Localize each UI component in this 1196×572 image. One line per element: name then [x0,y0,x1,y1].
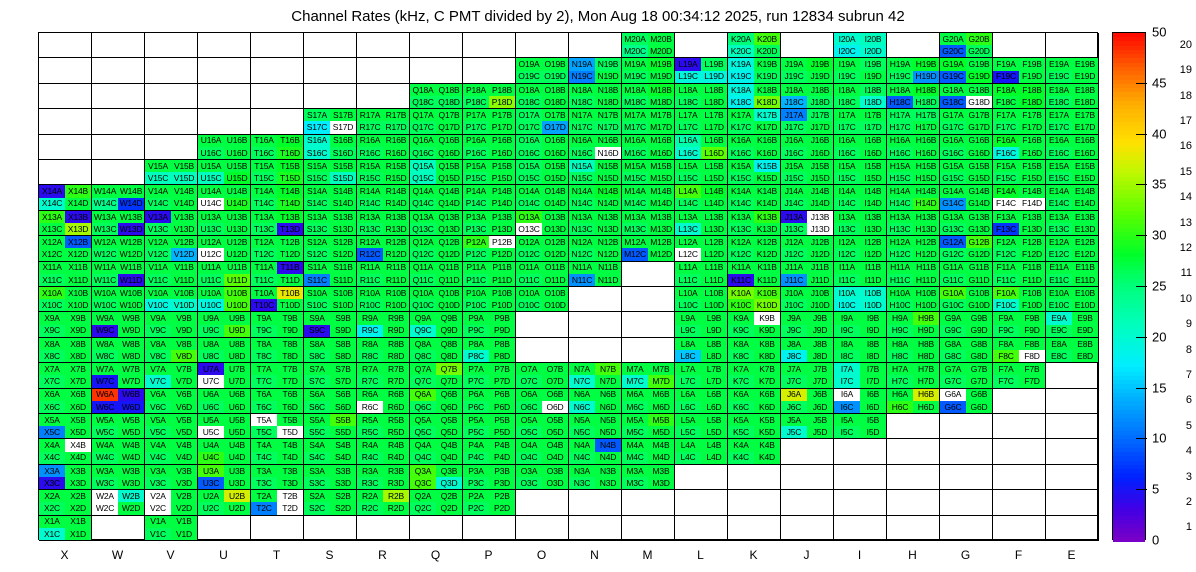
channel-N4C[interactable]: N4C [569,452,595,464]
channel-V10A[interactable]: V10A [145,287,171,299]
channel-P5A[interactable]: P5A [463,414,489,426]
channel-V11B[interactable]: V11B [171,262,197,274]
channel-L15D[interactable]: L15D [701,172,727,184]
heatmap-cell[interactable]: P12AP12BP12CP12D [463,236,516,261]
channel-S15D[interactable]: S15D [330,172,356,184]
channel-I8B[interactable]: I8B [860,338,886,350]
channel-U16A[interactable]: U16A [198,135,224,147]
heatmap-cell[interactable]: M6AM6BM6CM6D [622,389,675,414]
heatmap-cell[interactable]: K6AK6BK6CK6D [728,389,781,414]
heatmap-cell[interactable]: H10AH10BH10CH10D [887,287,940,312]
channel-Q15C[interactable]: Q15C [410,172,436,184]
channel-W11A[interactable]: W11A [92,262,118,274]
channel-X3A[interactable]: X3A [39,465,65,477]
channel-T5D[interactable]: T5D [277,426,303,438]
channel-E16A[interactable]: E16A [1046,135,1072,147]
channel-N14A[interactable]: N14A [569,185,595,197]
channel-R2D[interactable]: R2D [383,502,409,514]
channel-T3B[interactable]: T3B [277,465,303,477]
channel-L4C[interactable]: L4C [675,452,701,464]
channel-T9C[interactable]: T9C [251,325,277,337]
heatmap-cell[interactable]: R12AR12BR12CR12D [357,236,410,261]
channel-S10C[interactable]: S10C [304,299,330,311]
channel-J11D[interactable]: J11D [807,274,833,286]
heatmap-cell[interactable]: N6AN6BN6CN6D [569,389,622,414]
heatmap-cell[interactable]: O18AO18BO18CO18D [516,84,569,109]
channel-M12B[interactable]: M12B [648,236,674,248]
channel-P10D[interactable]: P10D [489,299,515,311]
channel-O4B[interactable]: O4B [542,439,568,451]
channel-X11D[interactable]: X11D [65,274,91,286]
channel-K10A[interactable]: K10A [728,287,754,299]
heatmap-cell[interactable]: I15AI15BI15CI15D [834,160,887,185]
channel-I11B[interactable]: I11B [860,262,886,274]
channel-F11B[interactable]: F11B [1019,262,1045,274]
channel-L15B[interactable]: L15B [701,160,727,172]
channel-I16B[interactable]: I16B [860,135,886,147]
channel-O16C[interactable]: O16C [516,147,542,159]
channel-O7D[interactable]: O7D [542,375,568,387]
heatmap-cell[interactable]: I5AI5BI5CI5D [834,414,887,439]
channel-N6C[interactable]: N6C [569,401,595,413]
channel-J19B[interactable]: J19B [807,58,833,70]
channel-X12A[interactable]: X12A [39,236,65,248]
heatmap-cell[interactable]: Q14AQ14BQ14CQ14D [410,185,463,210]
channel-V9A[interactable]: V9A [145,312,171,324]
channel-W8A[interactable]: W8A [92,338,118,350]
channel-G11A[interactable]: G11A [940,262,966,274]
channel-R6B[interactable]: R6B [383,389,409,401]
channel-L17B[interactable]: L17B [701,109,727,121]
heatmap-cell[interactable]: N15AN15BN15CN15D [569,160,622,185]
channel-M18B[interactable]: M18B [648,84,674,96]
channel-M12D[interactable]: M12D [648,248,674,260]
channel-X7A[interactable]: X7A [39,363,65,375]
heatmap-cell[interactable]: K4AK4BK4CK4D [728,439,781,464]
channel-T15A[interactable]: T15A [251,160,277,172]
channel-V6C[interactable]: V6C [145,401,171,413]
channel-I20D[interactable]: I20D [860,45,886,57]
channel-W10C[interactable]: W10C [92,299,118,311]
channel-I5B[interactable]: I5B [860,414,886,426]
channel-O14B[interactable]: O14B [542,185,568,197]
heatmap-cell[interactable]: V9AV9BV9CV9D [145,312,198,337]
channel-P13A[interactable]: P13A [463,211,489,223]
channel-U3B[interactable]: U3B [224,465,250,477]
heatmap-cell[interactable]: F7AF7BF7CF7D [993,363,1046,388]
channel-V10B[interactable]: V10B [171,287,197,299]
heatmap-cell[interactable]: Q18AQ18BQ18CQ18D [410,84,463,109]
heatmap-cell[interactable]: X11AX11BX11CX11D [39,262,92,287]
channel-N15B[interactable]: N15B [595,160,621,172]
heatmap-cell[interactable]: P5AP5BP5CP5D [463,414,516,439]
heatmap-cell[interactable]: W14AW14BW14CW14D [92,185,145,210]
channel-I17B[interactable]: I17B [860,109,886,121]
channel-L16B[interactable]: L16B [701,135,727,147]
channel-F9C[interactable]: F9C [993,325,1019,337]
channel-K7D[interactable]: K7D [754,375,780,387]
heatmap-cell[interactable]: O3AO3BO3CO3D [516,465,569,490]
heatmap-cell[interactable]: M16AM16BM16CM16D [622,135,675,160]
heatmap-cell[interactable]: W2AW2BW2CW2D [92,490,145,515]
channel-E10D[interactable]: E10D [1072,299,1098,311]
channel-I14D[interactable]: I14D [860,198,886,210]
channel-W6D[interactable]: W6D [118,401,144,413]
heatmap-cell[interactable]: U3AU3BU3CU3D [198,465,251,490]
channel-R9D[interactable]: R9D [383,325,409,337]
channel-F12D[interactable]: F12D [1019,248,1045,260]
channel-U9D[interactable]: U9D [224,325,250,337]
channel-I10A[interactable]: I10A [834,287,860,299]
channel-G12B[interactable]: G12B [966,236,992,248]
heatmap-cell[interactable]: W7AW7BW7CW7D [92,363,145,388]
heatmap-cell[interactable]: V8AV8BV8CV8D [145,338,198,363]
heatmap-cell[interactable]: R14AR14BR14CR14D [357,185,410,210]
channel-H14C[interactable]: H14C [887,198,913,210]
channel-J8D[interactable]: J8D [807,350,833,362]
channel-V6D[interactable]: V6D [171,401,197,413]
channel-M14A[interactable]: M14A [622,185,648,197]
channel-O10C[interactable]: O10C [516,299,542,311]
channel-S8A[interactable]: S8A [304,338,330,350]
heatmap-cell[interactable]: N18AN18BN18CN18D [569,84,622,109]
channel-R10C[interactable]: R10C [357,299,383,311]
channel-G15C[interactable]: G15C [940,172,966,184]
channel-H8C[interactable]: H8C [887,350,913,362]
channel-I19C[interactable]: I19C [834,71,860,83]
channel-E17A[interactable]: E17A [1046,109,1072,121]
heatmap-cell[interactable]: H19AH19BH19CH19D [887,58,940,83]
channel-J9D[interactable]: J9D [807,325,833,337]
heatmap-cell[interactable]: J19AJ19BJ19CJ19D [781,58,834,83]
channel-L4A[interactable]: L4A [675,439,701,451]
channel-Q9A[interactable]: Q9A [410,312,436,324]
channel-G20D[interactable]: G20D [966,45,992,57]
channel-U6D[interactable]: U6D [224,401,250,413]
channel-M15C[interactable]: M15C [622,172,648,184]
channel-F12C[interactable]: F12C [993,248,1019,260]
channel-F9D[interactable]: F9D [1019,325,1045,337]
channel-W14C[interactable]: W14C [92,198,118,210]
channel-K8D[interactable]: K8D [754,350,780,362]
heatmap-cell[interactable]: X8AX8BX8CX8D [39,338,92,363]
channel-G18D[interactable]: G18D [966,96,992,108]
channel-W13B[interactable]: W13B [118,211,144,223]
heatmap-cell[interactable]: V14AV14BV14CV14D [145,185,198,210]
channel-S3B[interactable]: S3B [330,465,356,477]
channel-W2C[interactable]: W2C [92,502,118,514]
channel-G7C[interactable]: G7C [940,375,966,387]
channel-L7B[interactable]: L7B [701,363,727,375]
heatmap-cell[interactable]: H7AH7BH7CH7D [887,363,940,388]
channel-W4B[interactable]: W4B [118,439,144,451]
channel-O12B[interactable]: O12B [542,236,568,248]
channel-F17C[interactable]: F17C [993,121,1019,133]
channel-H17C[interactable]: H17C [887,121,913,133]
channel-R5A[interactable]: R5A [357,414,383,426]
channel-N19C[interactable]: N19C [569,71,595,83]
channel-W14D[interactable]: W14D [118,198,144,210]
channel-E18A[interactable]: E18A [1046,84,1072,96]
channel-X1B[interactable]: X1B [65,516,91,528]
channel-H16D[interactable]: H16D [913,147,939,159]
channel-W13D[interactable]: W13D [118,223,144,235]
channel-R9A[interactable]: R9A [357,312,383,324]
channel-Q7D[interactable]: Q7D [436,375,462,387]
channel-H11C[interactable]: H11C [887,274,913,286]
channel-F19C[interactable]: F19C [993,71,1019,83]
channel-S4C[interactable]: S4C [304,452,330,464]
channel-J7D[interactable]: J7D [807,375,833,387]
channel-O5A[interactable]: O5A [516,414,542,426]
channel-F9B[interactable]: F9B [1019,312,1045,324]
channel-M17B[interactable]: M17B [648,109,674,121]
channel-K7C[interactable]: K7C [728,375,754,387]
channel-T7C[interactable]: T7C [251,375,277,387]
channel-K13C[interactable]: K13C [728,223,754,235]
channel-G16B[interactable]: G16B [966,135,992,147]
channel-R3B[interactable]: R3B [383,465,409,477]
channel-L18C[interactable]: L18C [675,96,701,108]
channel-U3C[interactable]: U3C [198,477,224,489]
channel-O19B[interactable]: O19B [542,58,568,70]
channel-J5C[interactable]: J5C [781,426,807,438]
channel-T12B[interactable]: T12B [277,236,303,248]
channel-H7C[interactable]: H7C [887,375,913,387]
channel-J7C[interactable]: J7C [781,375,807,387]
channel-H13B[interactable]: H13B [913,211,939,223]
channel-R7C[interactable]: R7C [357,375,383,387]
heatmap-cell[interactable]: P18AP18BP18CP18D [463,84,516,109]
heatmap-cell[interactable]: J14AJ14BJ14CJ14D [781,185,834,210]
channel-N12D[interactable]: N12D [595,248,621,260]
heatmap-cell[interactable]: I10AI10BI10CI10D [834,287,887,312]
heatmap-cell[interactable]: V5AV5BV5CV5D [145,414,198,439]
channel-I13D[interactable]: I13D [860,223,886,235]
channel-P8A[interactable]: P8A [463,338,489,350]
channel-E12B[interactable]: E12B [1072,236,1098,248]
heatmap-cell[interactable]: H18AH18BH18CH18D [887,84,940,109]
channel-E14D[interactable]: E14D [1072,198,1098,210]
heatmap-cell[interactable]: U11AU11BU11CU11D [198,262,251,287]
channel-T9D[interactable]: T9D [277,325,303,337]
heatmap-cell[interactable]: N4AN4BN4CN4D [569,439,622,464]
heatmap-cell[interactable]: G8AG8BG8CG8D [940,338,993,363]
heatmap-cell[interactable]: M3AM3BM3CM3D [622,465,675,490]
channel-G16D[interactable]: G16D [966,147,992,159]
channel-V8A[interactable]: V8A [145,338,171,350]
channel-O13C[interactable]: O13C [516,223,542,235]
channel-L13A[interactable]: L13A [675,211,701,223]
channel-P4A[interactable]: P4A [463,439,489,451]
channel-R11C[interactable]: R11C [357,274,383,286]
channel-U10C[interactable]: U10C [198,299,224,311]
channel-U8C[interactable]: U8C [198,350,224,362]
channel-F18C[interactable]: F18C [993,96,1019,108]
channel-G15B[interactable]: G15B [966,160,992,172]
channel-F13D[interactable]: F13D [1019,223,1045,235]
channel-G11C[interactable]: G11C [940,274,966,286]
channel-P18D[interactable]: P18D [489,96,515,108]
channel-X2D[interactable]: X2D [65,502,91,514]
channel-U8D[interactable]: U8D [224,350,250,362]
channel-N15C[interactable]: N15C [569,172,595,184]
channel-L19A[interactable]: L19A [675,58,701,70]
channel-U7C[interactable]: U7C [198,375,224,387]
channel-W11B[interactable]: W11B [118,262,144,274]
heatmap-cell[interactable]: H12AH12BH12CH12D [887,236,940,261]
channel-X5B[interactable]: X5B [65,414,91,426]
heatmap-cell[interactable]: W3AW3BW3CW3D [92,465,145,490]
channel-V15B[interactable]: V15B [171,160,197,172]
channel-U13C[interactable]: U13C [198,223,224,235]
channel-Q5A[interactable]: Q5A [410,414,436,426]
channel-S17D[interactable]: S17D [330,121,356,133]
channel-E12C[interactable]: E12C [1046,248,1072,260]
channel-J18D[interactable]: J18D [807,96,833,108]
channel-I11C[interactable]: I11C [834,274,860,286]
heatmap-cell[interactable]: R3AR3BR3CR3D [357,465,410,490]
channel-L18D[interactable]: L18D [701,96,727,108]
channel-K5A[interactable]: K5A [728,414,754,426]
channel-K11A[interactable]: K11A [728,262,754,274]
channel-X3B[interactable]: X3B [65,465,91,477]
heatmap-cell[interactable]: S11AS11BS11CS11D [304,262,357,287]
channel-N18C[interactable]: N18C [569,96,595,108]
heatmap-cell[interactable]: U16AU16BU16CU16D [198,135,251,160]
channel-M16C[interactable]: M16C [622,147,648,159]
channel-J16B[interactable]: J16B [807,135,833,147]
channel-P6D[interactable]: P6D [489,401,515,413]
channel-Q4C[interactable]: Q4C [410,452,436,464]
heatmap-cell[interactable]: F8AF8BF8CF8D [993,338,1046,363]
channel-J6A[interactable]: J6A [781,389,807,401]
channel-G10A[interactable]: G10A [940,287,966,299]
heatmap-cell[interactable]: Q6AQ6BQ6CQ6D [410,389,463,414]
channel-K8A[interactable]: K8A [728,338,754,350]
channel-M19C[interactable]: M19C [622,71,648,83]
channel-X10C[interactable]: X10C [39,299,65,311]
channel-O14D[interactable]: O14D [542,198,568,210]
channel-J14B[interactable]: J14B [807,185,833,197]
channel-R11A[interactable]: R11A [357,262,383,274]
channel-L10A[interactable]: L10A [675,287,701,299]
channel-V1A[interactable]: V1A [145,516,171,528]
channel-L16D[interactable]: L16D [701,147,727,159]
channel-F14C[interactable]: F14C [993,198,1019,210]
channel-T2A[interactable]: T2A [251,490,277,502]
heatmap-cell[interactable]: T13AT13BT13CT13D [251,211,304,236]
heatmap-cell[interactable]: N5AN5BN5CN5D [569,414,622,439]
channel-Q14C[interactable]: Q14C [410,198,436,210]
channel-R7D[interactable]: R7D [383,375,409,387]
channel-E15A[interactable]: E15A [1046,160,1072,172]
channel-H16A[interactable]: H16A [887,135,913,147]
heatmap-cell[interactable]: X13AX13BX13CX13D [39,211,92,236]
channel-Q8C[interactable]: Q8C [410,350,436,362]
heatmap-cell[interactable]: O17AO17BO17CO17D [516,109,569,134]
channel-I17C[interactable]: I17C [834,121,860,133]
channel-N5A[interactable]: N5A [569,414,595,426]
channel-M4A[interactable]: M4A [622,439,648,451]
channel-Q3B[interactable]: Q3B [436,465,462,477]
heatmap-cell[interactable]: U12AU12BU12CU12D [198,236,251,261]
channel-R12B[interactable]: R12B [383,236,409,248]
heatmap-cell[interactable]: R9AR9BR9CR9D [357,312,410,337]
channel-F15B[interactable]: F15B [1019,160,1045,172]
channel-R17A[interactable]: R17A [357,109,383,121]
channel-X14C[interactable]: X14C [39,198,65,210]
channel-J15C[interactable]: J15C [781,172,807,184]
channel-K15B[interactable]: K15B [754,160,780,172]
channel-N18D[interactable]: N18D [595,96,621,108]
channel-I7B[interactable]: I7B [860,363,886,375]
channel-X11B[interactable]: X11B [65,262,91,274]
channel-K11C[interactable]: K11C [728,274,754,286]
channel-F14B[interactable]: F14B [1019,185,1045,197]
channel-U2D[interactable]: U2D [224,502,250,514]
heatmap-cell[interactable]: J15AJ15BJ15CJ15D [781,160,834,185]
channel-K8B[interactable]: K8B [754,338,780,350]
channel-E11D[interactable]: E11D [1072,274,1098,286]
heatmap-cell[interactable]: U15AU15BU15CU15D [198,160,251,185]
heatmap-cell[interactable]: Q10AQ10BQ10CQ10D [410,287,463,312]
channel-O11A[interactable]: O11A [516,262,542,274]
channel-F8D[interactable]: F8D [1019,350,1045,362]
channel-T8A[interactable]: T8A [251,338,277,350]
channel-J6D[interactable]: J6D [807,401,833,413]
channel-R12C[interactable]: R12C [357,248,383,260]
channel-F13B[interactable]: F13B [1019,211,1045,223]
channel-N14C[interactable]: N14C [569,198,595,210]
channel-L12A[interactable]: L12A [675,236,701,248]
channel-Q4B[interactable]: Q4B [436,439,462,451]
channel-W12D[interactable]: W12D [118,248,144,260]
heatmap-cell[interactable]: T14AT14BT14CT14D [251,185,304,210]
channel-N14B[interactable]: N14B [595,185,621,197]
channel-N11D[interactable]: N11D [595,274,621,286]
channel-K15D[interactable]: K15D [754,172,780,184]
channel-H12D[interactable]: H12D [913,248,939,260]
heatmap-cell[interactable]: W5AW5BW5CW5D [92,414,145,439]
heatmap-cell[interactable]: T4AT4BT4CT4D [251,439,304,464]
channel-U13A[interactable]: U13A [198,211,224,223]
channel-X7D[interactable]: X7D [65,375,91,387]
heatmap-cell[interactable]: Q17AQ17BQ17CQ17D [410,109,463,134]
channel-G20C[interactable]: G20C [940,45,966,57]
heatmap-cell[interactable]: W12AW12BW12CW12D [92,236,145,261]
heatmap-cell[interactable]: G16AG16BG16CG16D [940,135,993,160]
channel-U2B[interactable]: U2B [224,490,250,502]
heatmap-cell[interactable]: W11AW11BW11CW11D [92,262,145,287]
channel-E8A[interactable]: E8A [1046,338,1072,350]
channel-P6B[interactable]: P6B [489,389,515,401]
heatmap-cell[interactable]: R4AR4BR4CR4D [357,439,410,464]
heatmap-cell[interactable]: L14AL14BL14CL14D [675,185,728,210]
channel-W14A[interactable]: W14A [92,185,118,197]
channel-V1C[interactable]: V1C [145,528,171,540]
channel-X7B[interactable]: X7B [65,363,91,375]
channel-K13A[interactable]: K13A [728,211,754,223]
channel-R14D[interactable]: R14D [383,198,409,210]
channel-E9D[interactable]: E9D [1072,325,1098,337]
channel-T8D[interactable]: T8D [277,350,303,362]
channel-W7B[interactable]: W7B [118,363,144,375]
channel-Q11A[interactable]: Q11A [410,262,436,274]
channel-R13B[interactable]: R13B [383,211,409,223]
channel-P4B[interactable]: P4B [489,439,515,451]
channel-V14D[interactable]: V14D [171,198,197,210]
